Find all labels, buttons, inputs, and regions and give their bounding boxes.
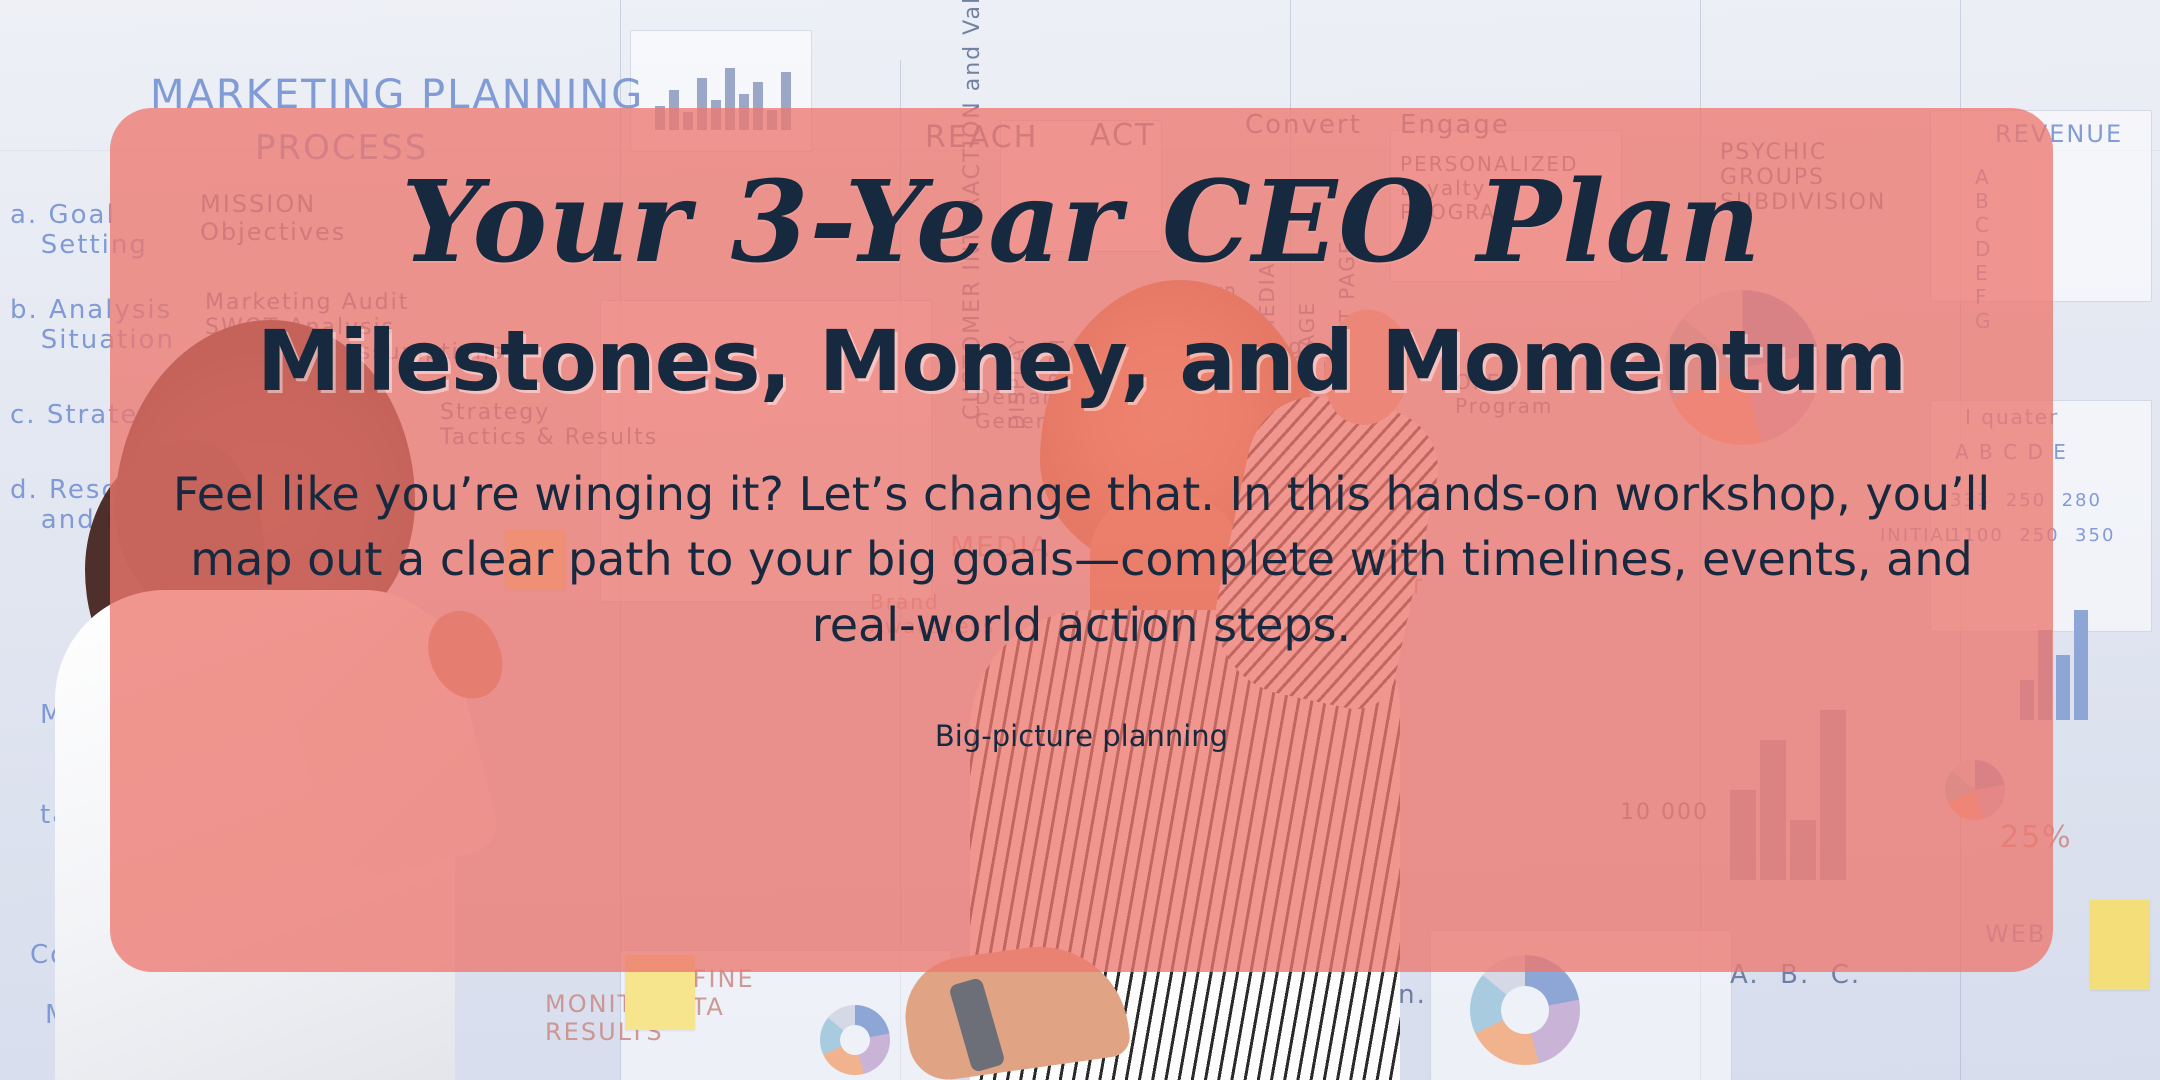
banner-caption: Big-picture planning [935, 658, 1228, 756]
event-banner: MARKETING PLANNING PROCESS a. Goal Setti… [0, 0, 2160, 1080]
banner-description: Feel like you’re winging it? Let’s chang… [170, 410, 1993, 658]
overlay-card: Your 3-Year CEO Plan Milestones, Money, … [110, 108, 2053, 972]
banner-title: Your 3-Year CEO Plan [401, 108, 1761, 285]
wall-donut-chart [820, 1005, 890, 1075]
banner-subtitle: Milestones, Money, and Momentum [257, 285, 1906, 410]
sticky-note [2090, 900, 2150, 990]
